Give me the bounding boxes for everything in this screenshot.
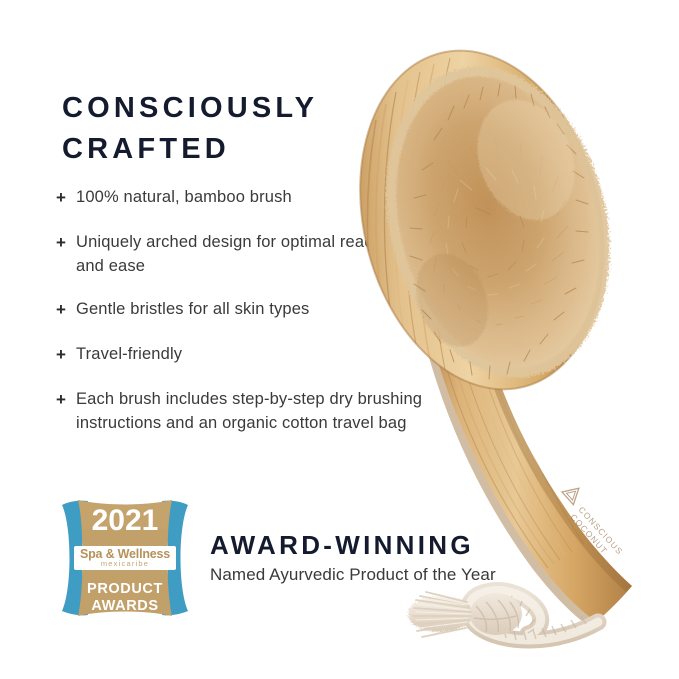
badge-year: 2021 — [92, 506, 159, 536]
rope-tassel — [408, 592, 472, 637]
badge-award-line-1: PRODUCT — [87, 581, 163, 597]
feature-text: Travel-friendly — [76, 343, 182, 367]
page-title-line-1: Consciously — [62, 92, 318, 124]
plus-icon: + — [56, 298, 76, 323]
dry-brush-illustration: CONSCIOUS COCONUT — [330, 0, 679, 679]
feature-text: Gentle bristles for all skin types — [76, 298, 309, 322]
product-feature-panel: Consciously Crafted + 100% natural, bamb… — [0, 0, 679, 679]
badge-org-logo: Spa & Wellness mexicaribe — [74, 546, 176, 570]
plus-icon: + — [56, 231, 76, 256]
feature-text: 100% natural, bamboo brush — [76, 186, 292, 210]
plus-icon: + — [56, 343, 76, 368]
badge-award-label: PRODUCT AWARDS — [87, 581, 163, 615]
triangle-logo-icon — [562, 482, 585, 505]
badge-org-region: mexicaribe — [101, 560, 149, 568]
plus-icon: + — [56, 388, 76, 413]
badge-award-line-2: AWARDS — [91, 598, 158, 614]
award-badge: 2021 Spa & Wellness mexicaribe PRODUCT A… — [58, 497, 192, 619]
badge-content: 2021 Spa & Wellness mexicaribe PRODUCT A… — [75, 501, 175, 615]
product-image: CONSCIOUS COCONUT — [330, 0, 679, 679]
plus-icon: + — [56, 186, 76, 211]
